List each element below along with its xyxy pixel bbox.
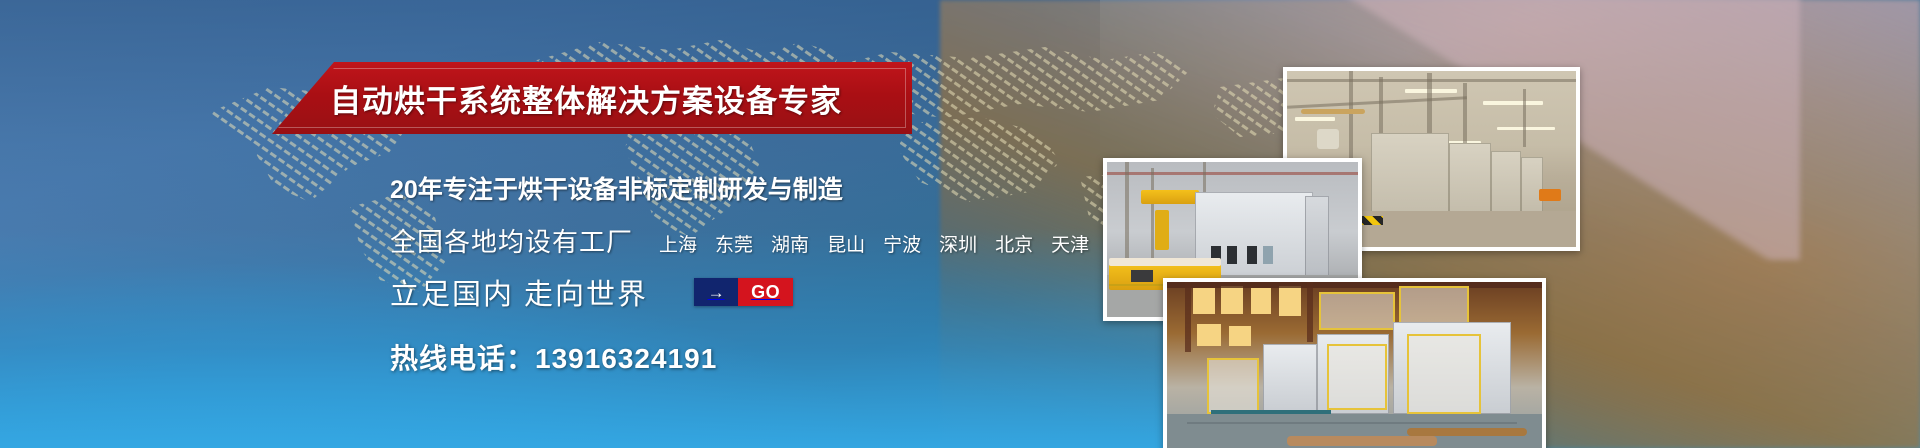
city-item-hunan: 湖南 [771,230,809,257]
factories-row: 全国各地均设有工厂 上海 东莞 湖南 昆山 宁波 深圳 北京 天津 [390,222,1110,259]
slogan-row: 立足国内 走向世界 → GO [390,271,1110,313]
city-item-ningbo: 宁波 [883,230,921,257]
slogan-text: 立足国内 走向世界 [390,271,648,313]
copy-block: 20年专注于烘干设备非标定制研发与制造 全国各地均设有工厂 上海 东莞 湖南 昆… [390,170,1110,377]
city-item-shanghai: 上海 [659,230,697,257]
city-item-shenzhen: 深圳 [939,230,977,257]
arrow-right-icon: → [694,278,738,306]
go-button-label: GO [738,278,793,306]
go-button[interactable]: → GO [694,278,793,306]
headline-text: 自动烘干系统整体解决方案设备专家 [330,62,902,134]
headline-ribbon: 自动烘干系统整体解决方案设备专家 [272,62,912,134]
city-list: 上海 东莞 湖南 昆山 宁波 深圳 北京 天津 [659,230,1089,257]
tagline-text: 20年专注于烘干设备非标定制研发与制造 [390,170,1110,206]
promo-banner: 自动烘干系统整体解决方案设备专家 20年专注于烘干设备非标定制研发与制造 全国各… [0,0,1920,448]
city-item-dongguan: 东莞 [715,230,753,257]
factories-lead-text: 全国各地均设有工厂 [390,222,633,259]
city-item-tianjin: 天津 [1051,230,1089,257]
city-item-beijing: 北京 [995,230,1033,257]
photo-production-line-drying-units [1163,278,1546,448]
city-item-kunshan: 昆山 [827,230,865,257]
hotline-text: 热线电话：13916324191 [390,337,1110,377]
